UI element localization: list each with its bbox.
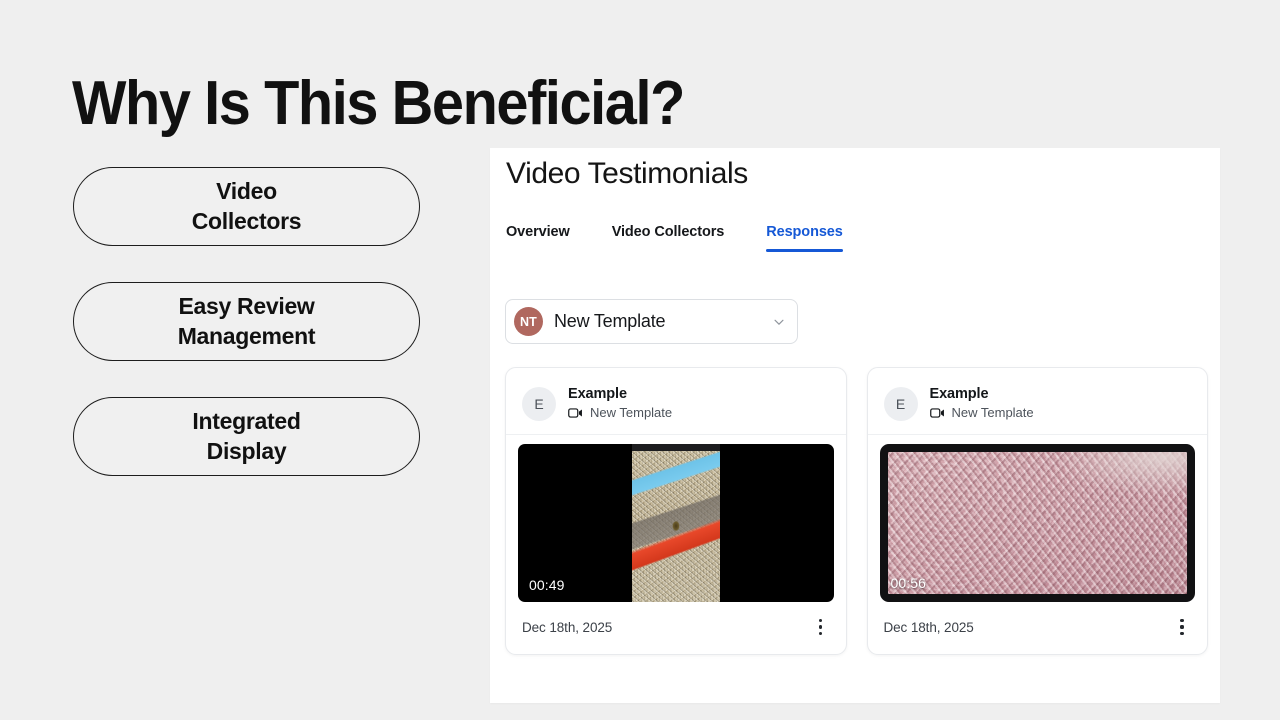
benefit-pill-line-1: Video bbox=[216, 177, 277, 206]
responder-source: New Template bbox=[930, 405, 1034, 421]
responder-name: Example bbox=[930, 386, 1034, 403]
video-thumbnail[interactable]: 00:56 bbox=[880, 444, 1196, 602]
video-still-image bbox=[888, 452, 1188, 594]
benefit-pill-line-1: Integrated bbox=[192, 407, 300, 436]
video-frame bbox=[632, 444, 720, 602]
responder-avatar: E bbox=[884, 387, 918, 421]
tab-label: Video Collectors bbox=[612, 224, 725, 240]
responder-avatar: E bbox=[522, 387, 556, 421]
response-card-list: E Example New Template bbox=[505, 367, 1208, 655]
template-select-value: New Template bbox=[554, 311, 772, 332]
benefit-pill-line-2: Display bbox=[207, 437, 287, 466]
video-camera-icon bbox=[930, 407, 945, 419]
tab-overview[interactable]: Overview bbox=[506, 224, 570, 252]
video-camera-icon bbox=[568, 407, 583, 419]
benefit-pill-easy-review-management[interactable]: Easy Review Management bbox=[73, 282, 420, 361]
chevron-down-icon bbox=[772, 315, 786, 329]
app-title: Video Testimonials bbox=[506, 157, 748, 191]
benefit-pill-video-collectors[interactable]: Video Collectors bbox=[73, 167, 420, 246]
kebab-menu-icon[interactable] bbox=[1173, 618, 1191, 636]
benefit-pill-line-2: Management bbox=[178, 322, 316, 351]
response-date: Dec 18th, 2025 bbox=[522, 620, 612, 635]
benefit-pill-line-1: Easy Review bbox=[178, 292, 314, 321]
response-card-footer: Dec 18th, 2025 bbox=[506, 602, 846, 654]
video-duration-badge: 00:56 bbox=[891, 575, 927, 591]
tab-responses[interactable]: Responses bbox=[766, 224, 842, 252]
tab-bar: Overview Video Collectors Responses bbox=[506, 224, 843, 252]
video-thumbnail-wrap: 00:49 bbox=[518, 444, 834, 602]
response-card[interactable]: E Example New Template 00:56 bbox=[867, 367, 1209, 655]
tab-label: Responses bbox=[766, 224, 842, 240]
responder-source-label: New Template bbox=[952, 405, 1034, 421]
response-card-header: E Example New Template bbox=[506, 368, 846, 435]
responder-name: Example bbox=[568, 386, 672, 403]
template-select[interactable]: NT New Template bbox=[505, 299, 798, 344]
app-screenshot-panel: Video Testimonials Overview Video Collec… bbox=[490, 148, 1220, 703]
video-thumbnail[interactable]: 00:49 bbox=[518, 444, 834, 602]
template-avatar: NT bbox=[514, 307, 543, 336]
response-card-header: E Example New Template bbox=[868, 368, 1208, 435]
page-title: Why Is This Beneficial? bbox=[72, 73, 684, 135]
benefit-pill-list: Video Collectors Easy Review Management … bbox=[73, 167, 420, 476]
benefit-pill-integrated-display[interactable]: Integrated Display bbox=[73, 397, 420, 476]
tab-label: Overview bbox=[506, 224, 570, 240]
kebab-menu-icon[interactable] bbox=[812, 618, 830, 636]
response-card[interactable]: E Example New Template bbox=[505, 367, 847, 655]
tab-video-collectors[interactable]: Video Collectors bbox=[612, 224, 725, 252]
video-duration-badge: 00:49 bbox=[529, 577, 565, 593]
response-date: Dec 18th, 2025 bbox=[884, 620, 974, 635]
response-card-footer: Dec 18th, 2025 bbox=[868, 602, 1208, 654]
benefit-pill-line-2: Collectors bbox=[192, 207, 301, 236]
responder-source-label: New Template bbox=[590, 405, 672, 421]
responder-source: New Template bbox=[568, 405, 672, 421]
video-still-image bbox=[632, 444, 720, 602]
video-thumbnail-wrap: 00:56 bbox=[880, 444, 1196, 602]
